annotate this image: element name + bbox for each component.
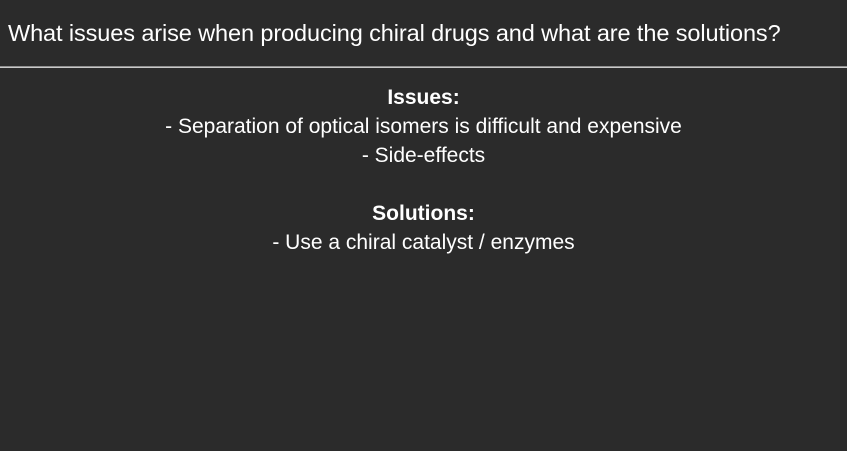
card-header: What issues arise when producing chiral … xyxy=(0,0,847,66)
answer-item-separation: - Separation of optical isomers is diffi… xyxy=(0,112,847,141)
question-text: What issues arise when producing chiral … xyxy=(8,19,781,47)
answer-spacer xyxy=(0,170,847,199)
answer-block: Issues: - Separation of optical isomers … xyxy=(0,83,847,257)
answer-heading-solutions: Solutions: xyxy=(0,199,847,228)
card-body: Issues: - Separation of optical isomers … xyxy=(0,68,847,451)
answer-item-chiral-catalyst: - Use a chiral catalyst / enzymes xyxy=(0,228,847,257)
answer-item-side-effects: - Side-effects xyxy=(0,141,847,170)
answer-heading-issues: Issues: xyxy=(0,83,847,112)
flashcard: What issues arise when producing chiral … xyxy=(0,0,847,451)
